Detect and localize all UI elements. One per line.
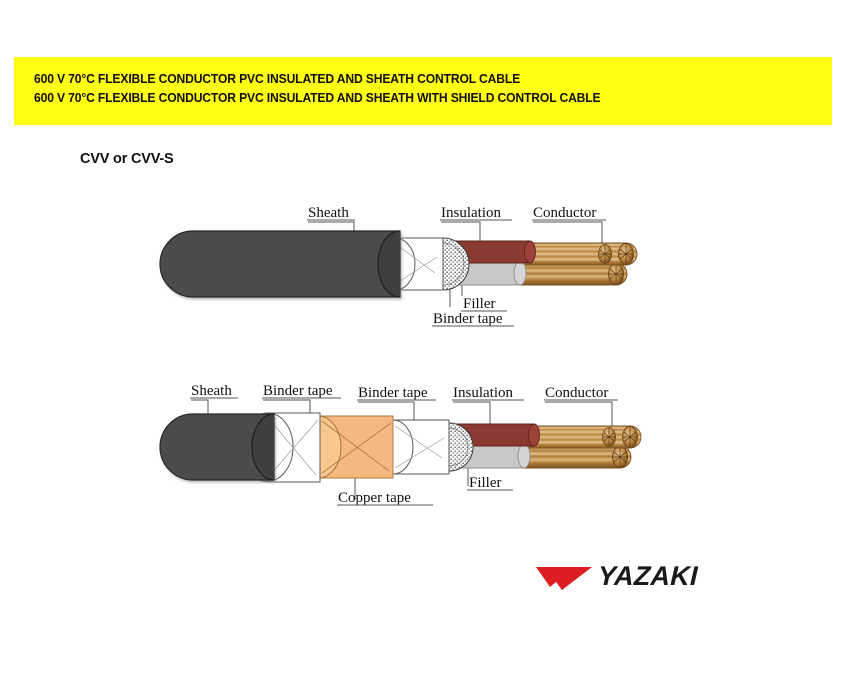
cvvs-label-insulation: Insulation [453, 385, 513, 401]
cvv-sheath [160, 231, 400, 297]
yazaki-arrow-icon [536, 565, 594, 591]
yazaki-wordmark: YAZAKI [597, 561, 698, 592]
cvv-label-insulation: Insulation [441, 205, 501, 221]
cvvs-label-binder-tape-outer: Binder tape [263, 383, 333, 399]
yazaki-logo: YAZAKI [536, 560, 692, 594]
spec-banner-line-2: 600 V 70°C FLEXIBLE CONDUCTOR PVC INSULA… [34, 89, 808, 108]
spec-banner-line-1: 600 V 70°C FLEXIBLE CONDUCTOR PVC INSULA… [34, 70, 808, 89]
cvv-label-filler: Filler [463, 296, 496, 312]
cvvs-label-copper-tape: Copper tape [338, 490, 411, 506]
cvvs-label-sheath: Sheath [191, 383, 232, 399]
spec-banner: 600 V 70°C FLEXIBLE CONDUCTOR PVC INSULA… [14, 57, 832, 125]
cvv-label-conductor: Conductor [533, 205, 596, 221]
section-title: CVV or CVV-S [80, 151, 174, 167]
cvvs-label-binder-tape-inner: Binder tape [358, 385, 428, 401]
cvvs-label-filler: Filler [469, 475, 502, 491]
figure-cvvs-cable: Sheath Binder tape Binder tape Insulatio… [150, 378, 670, 523]
figure-cvv-cable: Sheath Insulation Conductor Filler Binde… [150, 195, 670, 335]
cvv-label-binder-tape: Binder tape [433, 311, 503, 327]
cvv-label-sheath: Sheath [308, 205, 349, 221]
page-root: 600 V 70°C FLEXIBLE CONDUCTOR PVC INSULA… [0, 0, 866, 682]
cvvs-label-conductor: Conductor [545, 385, 608, 401]
